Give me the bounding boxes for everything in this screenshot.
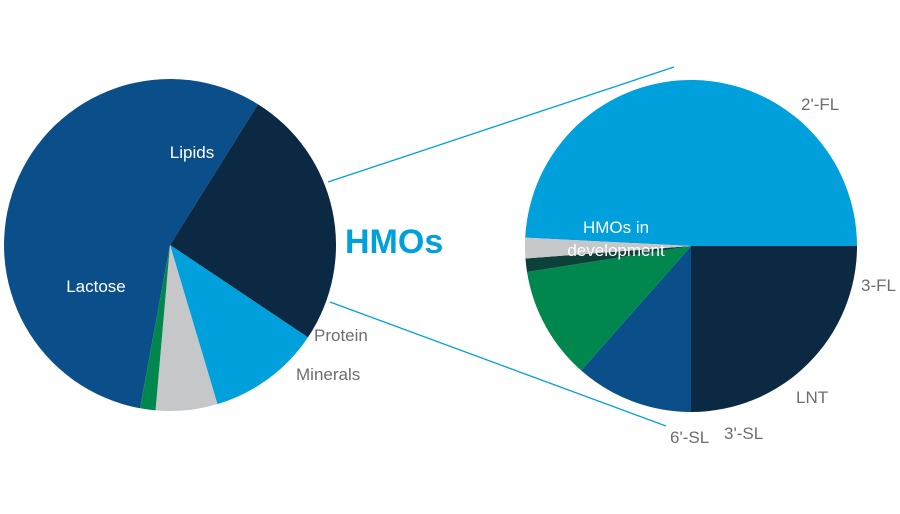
left-pie-chart: Lipids Lactose Protein Minerals [4, 79, 368, 411]
pie-label-hmos-in-development-line2: development [567, 241, 665, 260]
pie-label-lnt: LNT [796, 388, 828, 407]
center-title-hmos: HMOs [345, 223, 443, 261]
figure-canvas: Lipids Lactose Protein Minerals HMOs HMO… [0, 0, 900, 514]
pie-slice-2fl[interactable] [691, 246, 857, 412]
pie-label-hmos-in-development-line1: HMOs in [583, 218, 649, 237]
right-pie-chart: HMOs in development 2'-FL 3-FL LNT 3'-SL… [525, 80, 896, 447]
pie-label-2fl: 2'-FL [801, 95, 839, 114]
pie-label-lipids: Lipids [170, 143, 214, 162]
two-pie-chart-figure: Lipids Lactose Protein Minerals HMOs HMO… [0, 0, 900, 514]
pie-label-protein: Protein [314, 326, 368, 345]
pie-label-lactose: Lactose [66, 277, 126, 296]
pie-label-minerals: Minerals [296, 365, 360, 384]
pie-label-6sl: 6'-SL [670, 428, 709, 447]
pie-label-3sl: 3'-SL [724, 424, 763, 443]
pie-label-3fl: 3-FL [861, 276, 896, 295]
